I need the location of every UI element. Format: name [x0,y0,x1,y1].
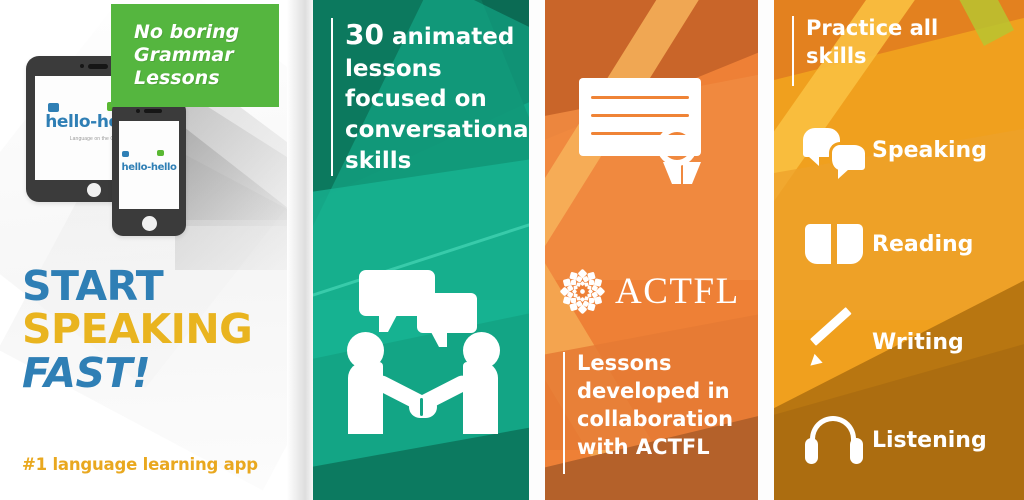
skill-label: Speaking [872,138,987,163]
orange-heading-block: Lessons developed in collaboration with … [563,350,733,462]
green-heading-line-3: focused on [345,84,529,115]
green-heading-line-2: lessons [345,54,529,85]
yellow-heading-block: Practice all skills [792,14,938,70]
phone-speaker-icon [144,109,162,113]
headline-line-2: SPEAKING [22,308,252,351]
headline-line-1: START [22,265,252,308]
certificate-line [591,114,689,117]
logo-wordmark: hello-hello [121,162,176,173]
headphones-icon [796,416,872,464]
skill-row-writing: Writing [796,310,1011,374]
tablet-home-button[interactable] [87,183,101,197]
phone-camera-icon [136,109,140,113]
handshake-conversation-icon [341,270,506,470]
phone-home-button[interactable] [142,216,157,231]
green-heading-line-4: conversational [345,115,529,146]
speech-bubble-blue-icon [122,151,129,157]
ribbon-line-1: No boring [134,21,239,44]
accent-rule [563,352,565,474]
actfl-wordmark: ACTFL [615,273,740,310]
subline-tagline: #1 language learning app [22,455,258,474]
panel-edge-gradient [287,0,313,500]
no-boring-grammar-ribbon: No boring Grammar Lessons [111,4,279,107]
actfl-rosette-icon: {} [559,268,606,315]
ribbon-line-2: Grammar [134,44,239,67]
skill-label: Listening [872,428,987,453]
person-left-body [348,362,383,434]
skill-row-reading: Reading [796,212,1011,276]
orange-heading-line-2: developed in [577,378,733,406]
tablet-speaker-icon [88,64,108,69]
seal-ribbon-right [683,162,701,184]
skill-label: Reading [872,232,973,257]
actfl-collaboration-panel: {} ACTFL Lessons developed in collaborat… [545,0,758,500]
handshake-hands [409,396,437,418]
accent-rule [331,18,333,176]
headline-line-3: FAST! [22,352,252,395]
green-heading-line-1: 30 animated [345,16,529,54]
ribbon-line-3: Lessons [134,67,239,90]
phone-mockup: hello-hello [112,100,186,236]
phone-app-logo: hello-hello [119,157,179,175]
handshake-gap [420,398,423,416]
skill-row-speaking: Speaking [796,118,1011,182]
certificate-line [591,96,689,99]
phone-screen: hello-hello [119,121,179,209]
yellow-heading-line-1: Practice all [806,14,938,42]
green-heading-line-5: skills [345,146,529,177]
practice-skills-panel: Practice all skills Speaking Reading Wri… [774,0,1024,500]
headline-block: START SPEAKING FAST! [22,265,252,395]
promotional-banner: hello-hello Language on the Go hello-hel… [0,0,1024,500]
left-intro-panel: hello-hello Language on the Go hello-hel… [0,0,313,500]
orange-heading-line-3: collaboration [577,406,733,434]
speech-bubble-green-icon [157,150,164,156]
skill-label: Writing [872,330,964,355]
yellow-heading-line-2: skills [806,42,938,70]
speech-bubble-small-icon [417,293,477,333]
skill-row-listening: Listening [796,408,1011,472]
speech-bubble-blue-icon [48,103,59,112]
animated-lessons-panel: 30 animated lessons focused on conversat… [313,0,529,500]
pencil-icon [796,318,872,366]
orange-heading-line-1: Lessons [577,350,733,378]
green-heading-block: 30 animated lessons focused on conversat… [331,16,529,177]
actfl-logo: {} ACTFL [559,268,740,315]
speech-bubbles-icon [796,128,872,172]
orange-heading-line-4: with ACTFL [577,434,733,462]
seal-ring [657,126,697,166]
open-book-icon [796,224,872,264]
person-right-body [463,362,498,434]
accent-rule [792,16,794,86]
certificate-seal-icon [579,78,719,198]
tablet-camera-icon [80,64,84,68]
